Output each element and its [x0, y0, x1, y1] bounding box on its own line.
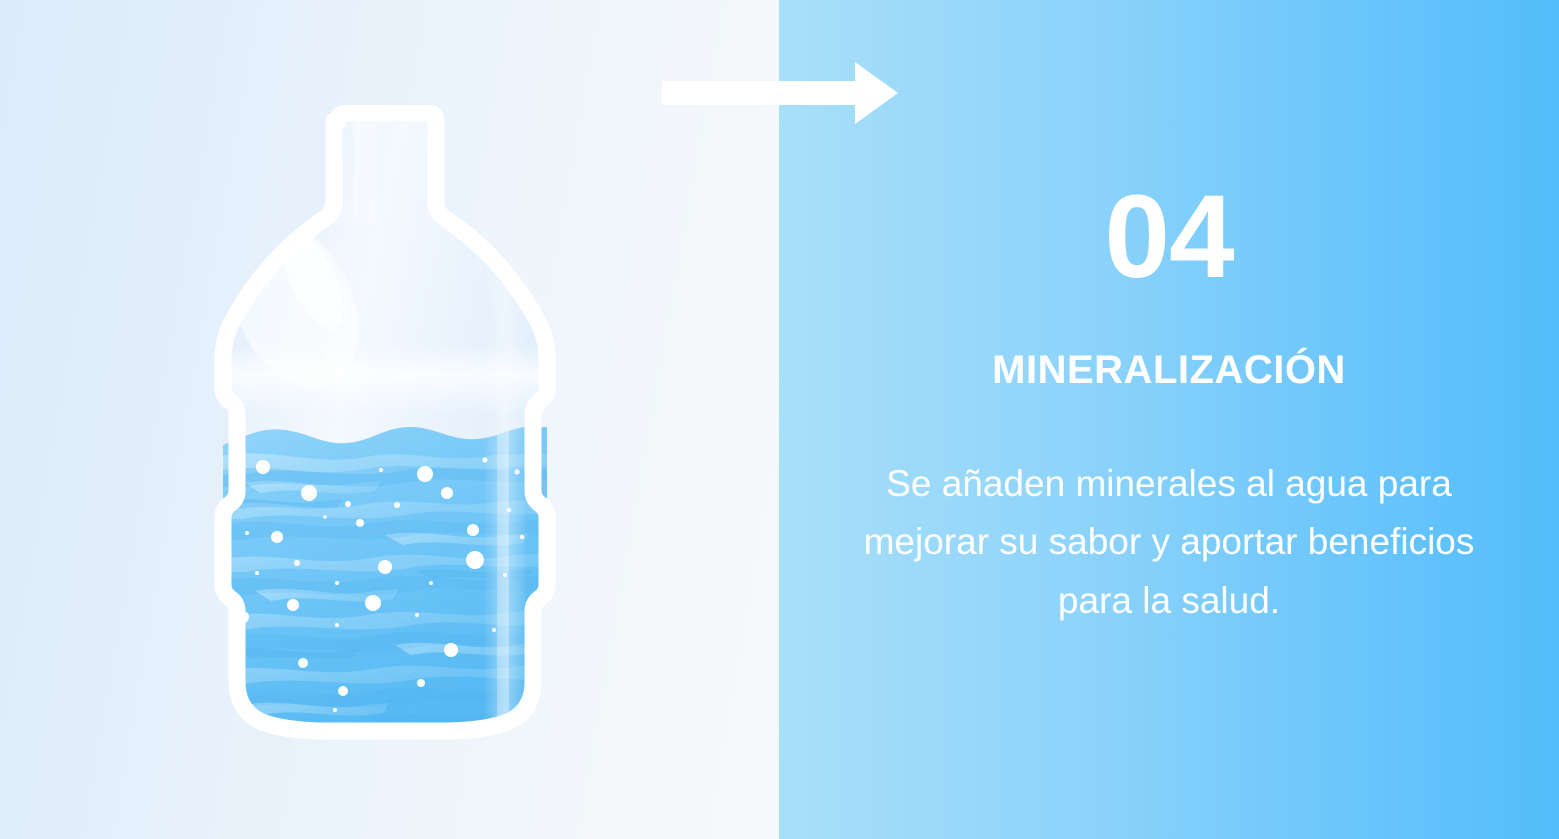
infographic-slide: 04 MINERALIZACIÓN Se añaden minerales al…: [0, 0, 1559, 839]
step-description: Se añaden minerales al agua para mejorar…: [849, 455, 1489, 630]
bottle-water: [215, 415, 560, 745]
step-title: MINERALIZACIÓN: [992, 348, 1346, 393]
water-bottle-icon: [185, 105, 585, 765]
step-number: 04: [1104, 178, 1233, 296]
step-content: 04 MINERALIZACIÓN Se añaden minerales al…: [779, 0, 1559, 839]
